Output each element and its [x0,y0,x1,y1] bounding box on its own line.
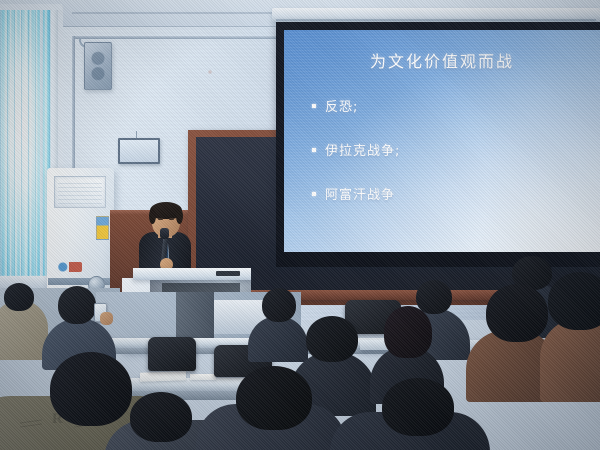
wall-plaque [118,138,160,164]
list-item: 阿富汗战争 [312,184,586,203]
audience-photographer-head [58,286,96,324]
presenter-eye-right [169,218,174,220]
audience-left-edge-head [4,283,34,311]
audience-front-left2-head [130,392,192,442]
ac-brand-logo-icon [58,262,82,272]
window-mullion [40,6,43,278]
wall-speaker-icon [84,42,112,90]
square-bullet-icon [312,148,316,152]
slide-bullet-text: 反恐; [325,96,358,115]
ac-energy-label [96,216,109,240]
projection-screen-roller [276,19,596,21]
presenter-hair-side-right [176,208,183,224]
audience-far-right-head [548,272,600,330]
paper-sheet [140,371,186,382]
audience-front-center-head [236,366,312,430]
window-head-rail [0,4,62,10]
lecture-hall-photo: 为文化价值观而战 反恐; 伊拉克战争; 阿富汗战争 [0,0,600,450]
paper-sheet [190,374,216,380]
slide-bullet-list: 反恐; 伊拉克战争; 阿富汗战争 [312,96,586,228]
audience-right-head [486,284,548,342]
projection-screen-surface: 为文化价值观而战 反恐; 伊拉克战争; 阿富汗战争 [284,30,600,252]
podium-cable-slot [216,271,240,276]
audience-woman-hair [384,306,432,358]
list-item: 伊拉克战争; [312,140,586,159]
presenter-hair-side-left [149,208,156,224]
audience-mid-head [262,288,296,322]
audience-photographer-hand [100,312,113,325]
audience-center-head [306,316,358,362]
square-bullet-icon [312,192,316,196]
slide-bullet-text: 伊拉克战争; [325,140,400,159]
audience-r-jacket-head [50,352,132,426]
presenter-eye-left [158,218,163,220]
audience-front-right-head [382,378,454,436]
slide-title: 为文化价值观而战 [284,48,600,72]
microphone-icon [160,228,169,239]
square-bullet-icon [312,104,316,108]
audience-far-right-body [540,318,600,402]
list-item: 反恐; [312,96,586,115]
air-conditioner-unit [47,168,114,296]
chair-back [148,337,196,371]
ac-vent-grille [54,176,106,208]
slide-bullet-text: 阿富汗战争 [325,184,395,203]
audience-right-center-head [416,280,452,314]
